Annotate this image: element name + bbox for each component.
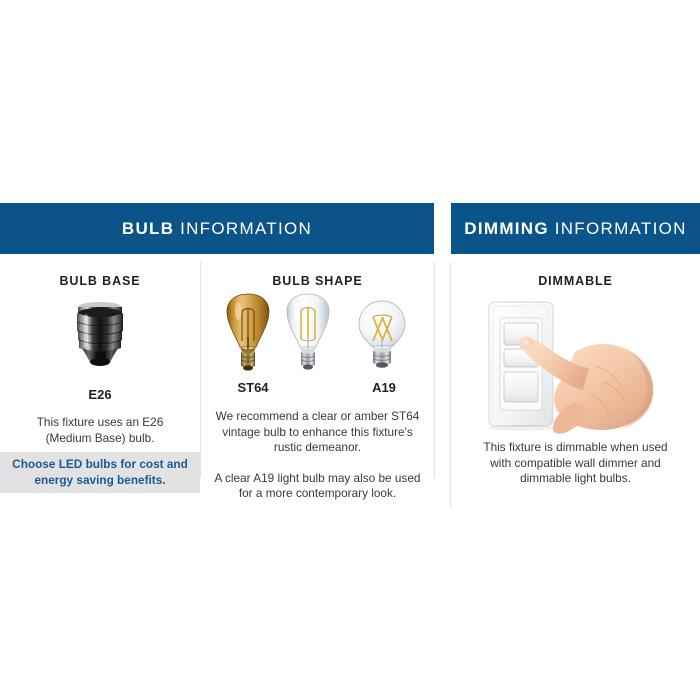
wall-dimmer-switch-with-hand-icon xyxy=(471,294,681,434)
led-note-text: Choose LED bulbs for cost and energy sav… xyxy=(0,457,200,488)
dimming-information-header: DIMMING INFORMATION xyxy=(451,203,700,254)
dimmer-button-bottom[interactable] xyxy=(504,372,538,402)
bulb-dimming-info-panel: BULB INFORMATION DIMMING INFORMATION BUL… xyxy=(0,0,700,700)
bulb-label-st64: ST64 xyxy=(218,380,288,395)
bulb-base-description: This fixture uses an E26 (Medium Base) b… xyxy=(0,415,200,446)
divider-shape-right xyxy=(434,262,435,478)
bulb-base-label: E26 xyxy=(0,387,200,402)
clear-a19-bulb-icon xyxy=(343,299,421,373)
led-recommendation-note: Choose LED bulbs for cost and energy sav… xyxy=(0,452,200,493)
bulb-base-title: BULB BASE xyxy=(0,254,200,288)
bulb-shape-panel: BULB SHAPE xyxy=(201,254,434,502)
dimmer-switch-artwork xyxy=(451,294,700,434)
bulb-shape-labels: ST64 A19 xyxy=(201,380,434,398)
bulb-base-panel: BULB BASE xyxy=(0,254,200,446)
dimming-header-strong: DIMMING xyxy=(464,219,549,239)
bulb-header-light: INFORMATION xyxy=(180,219,312,239)
bulb-shape-paragraph-1: We recommend a clear or amber ST64 vinta… xyxy=(201,409,434,456)
e26-screw-base-icon xyxy=(72,300,128,372)
dimming-header-light: INFORMATION xyxy=(555,219,687,239)
bulb-shapes-artwork xyxy=(201,296,434,378)
clear-st64-bulb xyxy=(273,291,343,378)
e26-base-artwork xyxy=(0,300,200,374)
bulb-information-header: BULB INFORMATION xyxy=(0,203,434,254)
dimming-description: This fixture is dimmable when used with … xyxy=(451,440,700,487)
bulb-header-strong: BULB xyxy=(122,219,174,239)
dimming-panel: DIMMABLE xyxy=(451,254,700,487)
bulb-shape-paragraph-2: A clear A19 light bulb may also be used … xyxy=(201,471,434,502)
dimmable-title: DIMMABLE xyxy=(451,254,700,288)
bulb-shape-title: BULB SHAPE xyxy=(201,254,434,288)
clear-a19-bulb xyxy=(343,299,421,378)
clear-st64-bulb-icon xyxy=(273,291,343,373)
bulb-label-a19: A19 xyxy=(349,380,419,395)
